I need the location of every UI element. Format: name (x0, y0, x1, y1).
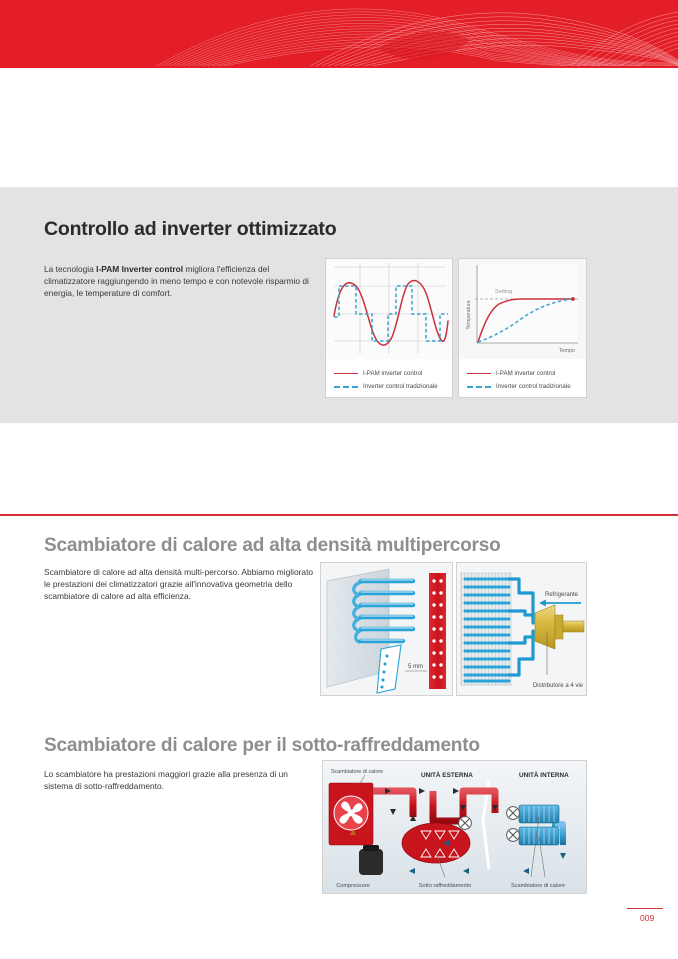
page-number: 009 (640, 913, 654, 923)
header-banner (0, 0, 678, 68)
chart-card-oscillation: I-PAM inverter control Inverter control … (325, 258, 453, 398)
banner-underline (0, 66, 678, 68)
label-compressor: Compressore (336, 883, 370, 889)
subcooling-description: Lo scambiatore ha prestazioni maggiori g… (44, 768, 309, 792)
oscillation-plot (326, 259, 452, 359)
legend-line-dashed-icon (467, 383, 491, 391)
distributor-label: Distributore a 4 vie (533, 683, 584, 689)
legend-label-ipam: I-PAM inverter control (363, 370, 422, 377)
distributor-diagram-panel: Refrigerante Distributore a 4 vie (456, 562, 587, 696)
valve-icon (507, 829, 520, 842)
valve-icon (507, 807, 520, 820)
legend-label-traditional-2: Inverter control tradizionale (496, 383, 571, 390)
section-divider-red (0, 514, 678, 516)
valve-icon (459, 817, 472, 830)
page-title-subcooling: Scambiatore di calore per il sotto-raffr… (44, 735, 480, 757)
temperature-rise-plot: Temperatura Tempo Setting (459, 259, 586, 359)
refrigerant-label: Refrigerante (545, 592, 579, 598)
setting-annotation: Setting (495, 289, 512, 295)
legend-label-ipam-2: I-PAM inverter control (496, 370, 555, 377)
fin-tube-diagram-svg: 5 mm (321, 563, 452, 695)
legend-row-traditional-2: Inverter control tradizionale (459, 380, 586, 393)
label-exchanger-top: Scambiatore di calore (331, 769, 383, 775)
fin-tube-diagram-panel: 5 mm (320, 562, 453, 696)
distributor-diagram-svg: Refrigerante Distributore a 4 vie (457, 563, 586, 695)
chart-card-temperature-rise: Temperatura Tempo Setting I-PAM inverter… (458, 258, 587, 398)
inverter-description: La tecnologia I-PAM Inverter control mig… (44, 263, 319, 300)
label-indoor-unit: UNITÀ INTERNA (519, 770, 569, 779)
legend-row-ipam-2: I-PAM inverter control (459, 367, 586, 380)
inverter-description-pre: La tecnologia (44, 264, 96, 274)
y-axis-label-temperatura: Temperatura (466, 300, 472, 329)
exchanger-description: Scambiatore di calore ad alta densità mu… (44, 566, 316, 603)
refrigeration-circuit-panel: Scambiatore di calore UNITÀ ESTERNA UNIT… (322, 760, 587, 894)
legend-row-ipam: I-PAM inverter control (326, 367, 452, 380)
label-subcooling: Sotto raffreddamento (419, 883, 471, 889)
page-number-rule (627, 908, 663, 909)
legend-line-solid-icon (334, 370, 358, 378)
page-title-exchanger: Scambiatore di calore ad alta densità mu… (44, 535, 501, 557)
page-title-inverter: Controllo ad inverter ottimizzato (44, 218, 336, 241)
dimension-label-5mm: 5 mm (408, 664, 423, 670)
legend-label-traditional: Inverter control tradizionale (363, 383, 438, 390)
legend-line-solid-icon (467, 370, 491, 378)
legend-row-traditional: Inverter control tradizionale (326, 380, 452, 393)
temperature-rise-chart-svg: Temperatura Tempo Setting (459, 259, 586, 359)
wave-pattern-graphic (0, 0, 678, 68)
legend-line-dashed-icon (334, 383, 358, 391)
x-axis-label-tempo: Tempo (559, 348, 575, 354)
oscillation-legend: I-PAM inverter control Inverter control … (326, 367, 452, 393)
label-exchanger-bottom: Scambiatore di calore (511, 883, 565, 889)
temperature-rise-legend: I-PAM inverter control Inverter control … (459, 367, 586, 393)
oscillation-chart-svg (326, 259, 452, 359)
refrigeration-circuit-svg: Scambiatore di calore UNITÀ ESTERNA UNIT… (323, 761, 586, 893)
inverter-description-bold: I-PAM Inverter control (96, 264, 183, 274)
label-outdoor-unit: UNITÀ ESTERNA (421, 770, 473, 779)
